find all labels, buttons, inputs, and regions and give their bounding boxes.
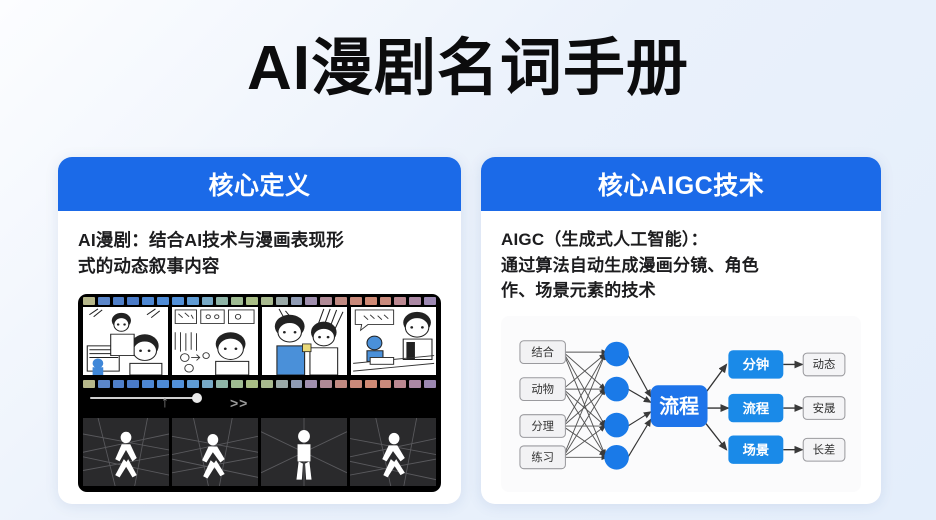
- filmstrip-perforation: [335, 380, 347, 388]
- filmstrip-perforation: [187, 380, 199, 388]
- filmstrip-perforation: [127, 297, 139, 305]
- comic-panel: [172, 307, 257, 375]
- filmstrip-perforation: [157, 297, 169, 305]
- filmstrip-perforation: [365, 380, 377, 388]
- aigc-text: AIGC（生成式人工智能）： 通过算法自动生成漫画分镜、角色 作、场景元素的技术: [501, 227, 861, 304]
- filmstrip-perforation: [320, 380, 332, 388]
- filmstrip-perforation: [231, 297, 243, 305]
- aigc-line-3: 作、场景元素的技术: [501, 278, 861, 304]
- filmstrip-perforation: [216, 297, 228, 305]
- filmstrip-perforation: [246, 297, 258, 305]
- filmstrip-perforation: [216, 380, 228, 388]
- definition-text: AI漫剧：结合AI技术与漫画表现形 式的动态叙事内容: [78, 227, 441, 280]
- filmstrip-perforation: [172, 297, 184, 305]
- filmstrip-perforation: [261, 297, 273, 305]
- filmstrip-perforation: [187, 297, 199, 305]
- comic-panel: [351, 307, 436, 375]
- filmstrip-graphic: ↑ >>: [78, 294, 441, 493]
- arrow-up-icon[interactable]: ↑: [161, 395, 169, 411]
- card-body-core-definition: AI漫剧：结合AI技术与漫画表现形 式的动态叙事内容: [58, 211, 461, 504]
- filmstrip-perforation: [83, 297, 95, 305]
- card-header-core-definition: 核心定义: [58, 157, 461, 211]
- aigc-line-2: 通过算法自动生成漫画分镜、角色: [501, 253, 861, 279]
- filmstrip-perforations-bottom: [78, 377, 441, 388]
- filmstrip-perforation: [350, 380, 362, 388]
- filmstrip-perforation: [113, 297, 125, 305]
- diagram-output-label: 动态: [813, 358, 836, 371]
- filmstrip-perforation: [98, 297, 110, 305]
- filmstrip-perforation: [291, 297, 303, 305]
- motion-frame-row: [78, 418, 441, 493]
- fast-forward-icon[interactable]: >>: [230, 396, 248, 410]
- filmstrip-perforations-top: [78, 294, 441, 305]
- diagram-center-label: 流程: [659, 394, 699, 417]
- diagram-center-node: 流程: [651, 385, 708, 427]
- definition-line-2: 式的动态叙事内容: [78, 253, 441, 279]
- filmstrip-perforation: [202, 380, 214, 388]
- diagram-input-label: 结合: [531, 344, 554, 358]
- aigc-line-1: AIGC（生成式人工智能）：: [501, 227, 861, 253]
- filmstrip-perforation: [394, 297, 406, 305]
- comic-panel: [83, 307, 168, 375]
- comic-panel: [262, 307, 347, 375]
- comic-panel-row: [78, 305, 441, 377]
- filmstrip-perforation: [320, 297, 332, 305]
- diagram-output-nodes: 动态 安晟 长差: [803, 353, 845, 461]
- card-header-core-aigc-tech: 核心AIGC技术: [481, 157, 881, 211]
- diagram-branch-nodes: 分钟 流程 场景: [728, 350, 783, 464]
- filmstrip-perforation: [394, 380, 406, 388]
- infographic-page: AI漫剧名词手册 核心定义 AI漫剧：结合AI技术与漫画表现形 式的动态叙事内容: [0, 0, 936, 520]
- card-core-definition: 核心定义 AI漫剧：结合AI技术与漫画表现形 式的动态叙事内容: [58, 157, 461, 504]
- filmstrip-perforation: [202, 297, 214, 305]
- filmstrip-perforation: [380, 380, 392, 388]
- filmstrip-perforation: [276, 297, 288, 305]
- filmstrip-perforation: [305, 380, 317, 388]
- page-title: AI漫剧名词手册: [0, 34, 936, 103]
- diagram-branch-label: 场景: [743, 442, 770, 457]
- flow-diagram: 结合 动物 分理 练习: [501, 316, 861, 493]
- filmstrip-perforation: [98, 380, 110, 388]
- timeline-slider-knob[interactable]: [192, 393, 202, 403]
- diagram-input-label: 分理: [531, 419, 554, 432]
- filmstrip-perforation: [142, 297, 154, 305]
- filmstrip-perforation: [142, 380, 154, 388]
- filmstrip-perforation: [276, 380, 288, 388]
- definition-line-1: AI漫剧：结合AI技术与漫画表现形: [78, 227, 441, 253]
- card-core-aigc-tech: 核心AIGC技术 AIGC（生成式人工智能）： 通过算法自动生成漫画分镜、角色 …: [481, 157, 881, 504]
- filmstrip-perforation: [157, 380, 169, 388]
- filmstrip-perforation: [380, 297, 392, 305]
- filmstrip-perforation: [409, 380, 421, 388]
- diagram-input-label: 练习: [531, 450, 554, 464]
- diagram-hidden-nodes: [604, 341, 629, 469]
- diagram-output-label: 安晟: [813, 400, 836, 414]
- filmstrip-perforation: [172, 380, 184, 388]
- diagram-branch-label: 分钟: [743, 356, 770, 372]
- diagram-branch-label: 流程: [743, 399, 770, 415]
- filmstrip-perforation: [305, 297, 317, 305]
- filmstrip-perforation: [291, 380, 303, 388]
- diagram-input-nodes: 结合 动物 分理 练习: [520, 340, 565, 468]
- timeline-slider-track[interactable]: [90, 397, 200, 399]
- filmstrip-perforation: [424, 380, 436, 388]
- filmstrip-perforation: [127, 380, 139, 388]
- motion-frame: [350, 418, 436, 487]
- filmstrip-perforation: [365, 297, 377, 305]
- filmstrip-perforation: [83, 380, 95, 388]
- filmstrip-perforation: [350, 297, 362, 305]
- motion-frame: [261, 418, 347, 487]
- motion-frame: [172, 418, 258, 487]
- filmstrip-perforation: [335, 297, 347, 305]
- playback-controls: ↑ >>: [78, 388, 441, 418]
- diagram-input-label: 动物: [531, 381, 554, 395]
- card-body-core-aigc-tech: AIGC（生成式人工智能）： 通过算法自动生成漫画分镜、角色 作、场景元素的技术: [481, 211, 881, 504]
- filmstrip-perforation: [424, 297, 436, 305]
- motion-frame: [83, 418, 169, 487]
- filmstrip-perforation: [246, 380, 258, 388]
- filmstrip-perforation: [231, 380, 243, 388]
- filmstrip-perforation: [113, 380, 125, 388]
- filmstrip-perforation: [409, 297, 421, 305]
- diagram-output-label: 长差: [813, 442, 836, 456]
- filmstrip-perforation: [261, 380, 273, 388]
